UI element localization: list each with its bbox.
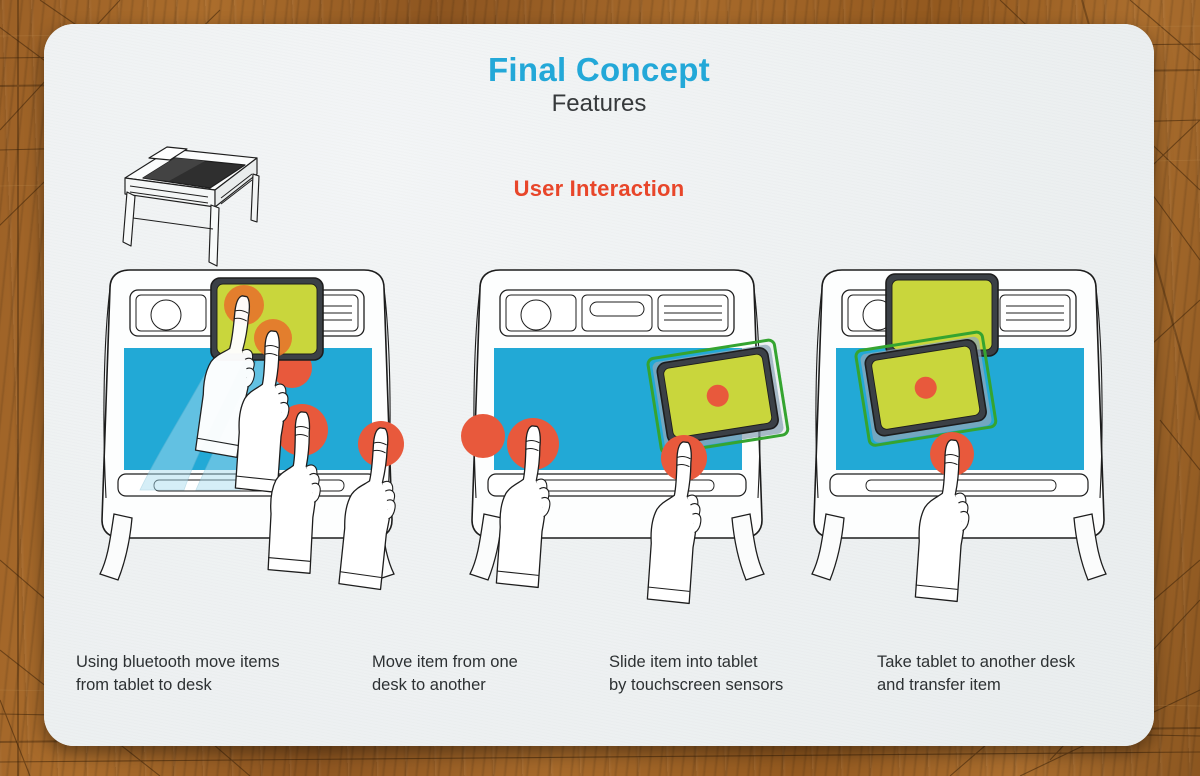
- tablet-on-desk[interactable]: [647, 339, 788, 454]
- panel-bluetooth: [100, 270, 406, 590]
- caption-bluetooth: Using bluetooth move items from tablet t…: [76, 651, 346, 697]
- touch-dot: [461, 414, 505, 458]
- panels-illustration: [44, 24, 1154, 746]
- tablet-on-desk[interactable]: [855, 331, 996, 446]
- caption-desk-to-desk: Move item from one desk to another: [372, 651, 602, 697]
- caption-take-tablet: Take tablet to another desk and transfer…: [877, 651, 1147, 697]
- panel-take-tablet: [812, 270, 1106, 602]
- caption-slide-into-tablet: Slide item into tablet by touchscreen se…: [609, 651, 849, 697]
- concept-card: Final Concept Features User Interaction: [44, 24, 1154, 746]
